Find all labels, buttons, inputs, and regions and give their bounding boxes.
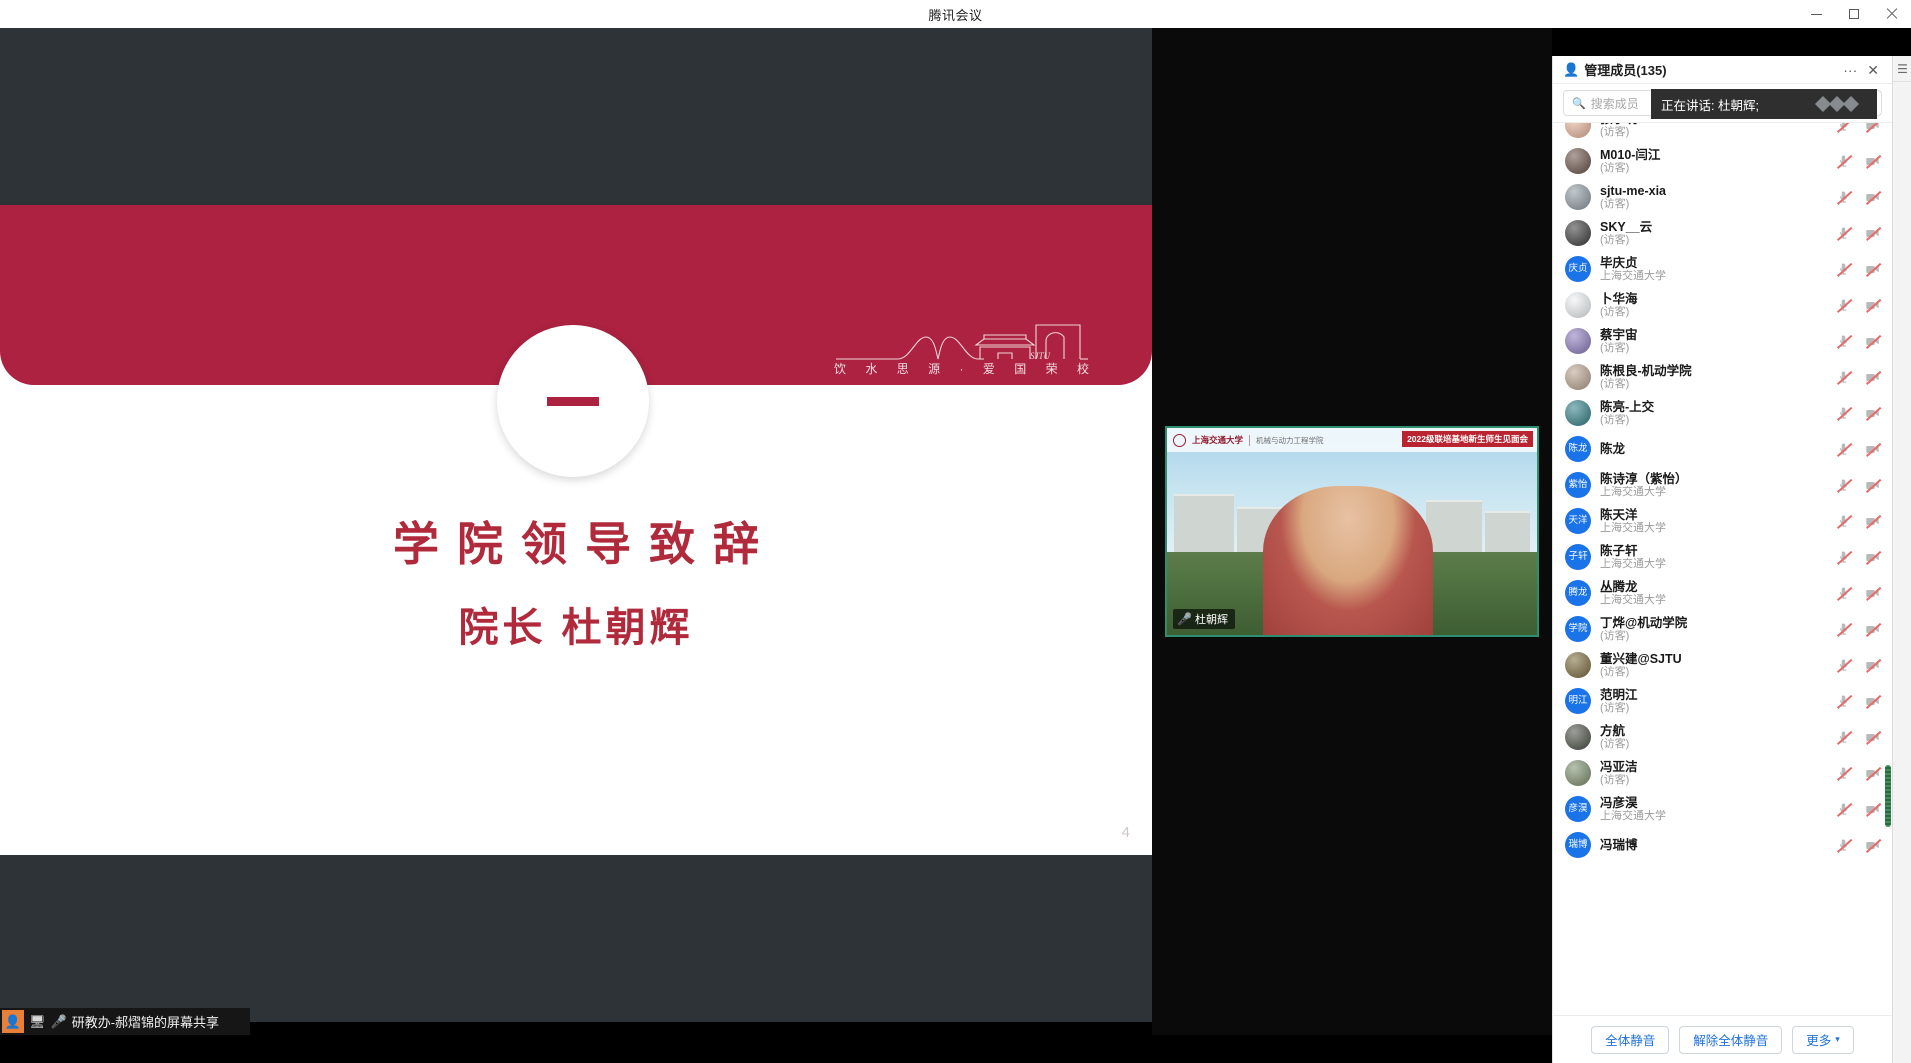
mic-muted-icon[interactable]	[1836, 766, 1851, 781]
participant-info: 陈诗淳（紫怡）上海交通大学	[1600, 472, 1827, 499]
participant-name: 陈子轩	[1600, 544, 1827, 558]
participant-name: 蔡宇宙	[1600, 328, 1827, 342]
participant-info: M010-闫江(访客)	[1600, 148, 1827, 175]
participant-row[interactable]: 陈根良-机动学院(访客)	[1553, 359, 1892, 395]
participant-name: 方航	[1600, 724, 1827, 738]
slide-circle-badge	[497, 325, 649, 477]
avatar: 学院	[1565, 616, 1591, 642]
participant-status-icons	[1836, 190, 1880, 205]
avatar: 陈龙	[1565, 436, 1591, 462]
share-status-label: 研教办-郝熠锦的屏幕共享	[72, 1012, 219, 1031]
screen-share-icon[interactable]: 🖥	[29, 1014, 46, 1030]
sjtu-logo-icon	[1173, 434, 1186, 447]
mic-muted-icon[interactable]	[1836, 154, 1851, 169]
participant-row[interactable]: 方航(访客)	[1553, 719, 1892, 755]
video-pane: 上海交通大学 机械与动力工程学院 2022级联培基地新生师生见面会 🎤 杜朝辉	[1152, 28, 1552, 1035]
panel-title: 管理成员(135)	[1584, 60, 1838, 79]
participant-name: 卜华海	[1600, 292, 1827, 306]
participant-status-icons	[1836, 370, 1880, 385]
slide-page-number: 4	[1122, 824, 1130, 841]
presentation-slide: SJTU 饮 水 思 源 · 爱 国 荣 校 学院领导致辞 院长 杜朝辉	[0, 205, 1152, 855]
avatar	[1565, 184, 1591, 210]
maximize-icon	[1849, 9, 1859, 19]
mic-muted-icon[interactable]	[1836, 190, 1851, 205]
mic-muted-icon[interactable]	[1836, 478, 1851, 493]
close-button[interactable]	[1873, 0, 1911, 28]
participant-name: 陈根良-机动学院	[1600, 364, 1827, 378]
slide-dash-mark	[547, 397, 599, 406]
motto-char: 思	[897, 360, 910, 377]
participant-name: 丁烨@机动学院	[1600, 616, 1827, 630]
mic-muted-icon[interactable]	[1836, 370, 1851, 385]
participant-row[interactable]: 陈亮-上交(访客)	[1553, 395, 1892, 431]
participant-row[interactable]: 陈龙陈龙	[1553, 431, 1892, 467]
camera-off-icon[interactable]	[1865, 838, 1880, 853]
participant-row[interactable]: sjtu-me-xia(访客)	[1553, 179, 1892, 215]
panel-close-button[interactable]: ✕	[1862, 63, 1884, 77]
participant-row[interactable]: 子轩陈子轩上海交通大学	[1553, 539, 1892, 575]
camera-off-icon[interactable]	[1865, 226, 1880, 241]
participant-name: 毕庆贞	[1600, 256, 1827, 270]
speaker-nameplate: 🎤 杜朝辉	[1173, 609, 1235, 629]
participant-status-icons	[1836, 550, 1880, 565]
participant-org: (访客)	[1600, 702, 1827, 715]
camera-off-icon[interactable]	[1865, 802, 1880, 817]
participant-org: 上海交通大学	[1600, 810, 1827, 823]
speaker-figure	[1263, 486, 1433, 635]
participant-row[interactable]: 瑞博冯瑞博	[1553, 827, 1892, 863]
scrollbar-thumb[interactable]	[1885, 765, 1891, 827]
participant-info: 丛腾龙上海交通大学	[1600, 580, 1827, 607]
motto-char: 爱	[983, 360, 996, 377]
participant-status-icons	[1836, 838, 1880, 853]
participant-status-icons	[1836, 406, 1880, 421]
participant-name: 陈龙	[1600, 442, 1827, 456]
avatar	[1565, 724, 1591, 750]
participant-org: (访客)	[1600, 414, 1827, 427]
camera-off-icon[interactable]	[1865, 190, 1880, 205]
participant-info: 陈子轩上海交通大学	[1600, 544, 1827, 571]
avatar: 明江	[1565, 688, 1591, 714]
participant-org: (访客)	[1600, 234, 1827, 247]
avatar	[1565, 652, 1591, 678]
participant-info: 蔡宇宙(访客)	[1600, 328, 1827, 355]
participant-org: (访客)	[1600, 126, 1827, 139]
mic-muted-icon[interactable]	[1836, 442, 1851, 457]
maximize-button[interactable]	[1835, 0, 1873, 28]
participant-status-icons	[1836, 622, 1880, 637]
participant-row[interactable]: 蔡宇宙(访客)	[1553, 323, 1892, 359]
participant-status-icons	[1836, 122, 1880, 133]
participant-info: 丁烨@机动学院(访客)	[1600, 616, 1827, 643]
avatar	[1565, 760, 1591, 786]
video-building	[1426, 500, 1482, 556]
participant-org: 上海交通大学	[1600, 486, 1827, 499]
mute-all-label: 全体静音	[1605, 1030, 1655, 1049]
camera-off-icon[interactable]	[1865, 262, 1880, 277]
camera-off-icon[interactable]	[1865, 730, 1880, 745]
mic-muted-icon[interactable]	[1836, 586, 1851, 601]
participant-status-icons	[1836, 154, 1880, 169]
video-building	[1174, 494, 1233, 556]
participant-row[interactable]: 庆贞毕庆贞上海交通大学	[1553, 251, 1892, 287]
participant-org: 上海交通大学	[1600, 558, 1827, 571]
panel-header: 👤 管理成员(135) ··· ✕	[1553, 56, 1892, 84]
participant-name: 丛腾龙	[1600, 580, 1827, 594]
participant-row[interactable]: 明江范明江(访客)	[1553, 683, 1892, 719]
avatar	[1565, 122, 1591, 138]
panel-footer: 全体静音 解除全体静音 更多 ▾	[1553, 1015, 1892, 1063]
camera-off-icon[interactable]	[1865, 694, 1880, 709]
video-university-name: 上海交通大学	[1192, 434, 1243, 446]
participant-org: (访客)	[1600, 666, 1827, 679]
participant-org: 上海交通大学	[1600, 270, 1827, 283]
slide-motto: 饮 水 思 源 · 爱 国 荣 校	[834, 360, 1090, 377]
meeting-stage: SJTU 饮 水 思 源 · 爱 国 荣 校 学院领导致辞 院长 杜朝辉	[0, 28, 1911, 1035]
avatar	[1565, 220, 1591, 246]
user-icon: 👤	[2, 1010, 24, 1033]
participant-name: 冯彦淏	[1600, 796, 1827, 810]
participant-status-icons	[1836, 514, 1880, 529]
video-topic-label: 2022级联培基地新生师生见面会	[1402, 431, 1533, 447]
speaking-now-toast: 正在讲话: 杜朝辉;	[1651, 89, 1877, 119]
camera-off-icon[interactable]	[1865, 586, 1880, 601]
mic-muted-icon[interactable]	[1836, 622, 1851, 637]
participant-org: 上海交通大学	[1600, 594, 1827, 607]
minimize-icon	[1811, 14, 1822, 15]
window-controls	[1797, 0, 1911, 28]
participant-name: 董兴建@SJTU	[1600, 652, 1827, 666]
participant-info: 冯瑞博	[1600, 838, 1827, 852]
mic-on-icon: 🎤	[1177, 613, 1192, 625]
chevron-down-icon: ▾	[1835, 1034, 1840, 1045]
mic-muted-icon[interactable]	[1836, 694, 1851, 709]
search-icon: 🔍	[1572, 97, 1586, 110]
participant-org: (访客)	[1600, 162, 1827, 175]
participant-org: (访客)	[1600, 342, 1827, 355]
camera-off-icon[interactable]	[1865, 406, 1880, 421]
minimize-button[interactable]	[1797, 0, 1835, 28]
participant-name: 陈天洋	[1600, 508, 1827, 522]
participant-status-icons	[1836, 478, 1880, 493]
camera-off-icon[interactable]	[1865, 122, 1880, 133]
participant-status-icons	[1836, 262, 1880, 277]
motto-char: 校	[1077, 360, 1090, 377]
motto-char: 水	[865, 360, 878, 377]
avatar	[1565, 148, 1591, 174]
avatar: 紫怡	[1565, 472, 1591, 498]
camera-off-icon[interactable]	[1865, 370, 1880, 385]
participant-org: (访客)	[1600, 306, 1827, 319]
participants-panel: 👤 管理成员(135) ··· ✕ 🔍 搜索成员 正在讲话: 杜朝辉;	[1552, 56, 1892, 1063]
participant-info: 方航(访客)	[1600, 724, 1827, 751]
slide-subtitle: 院长 杜朝辉	[0, 595, 1152, 653]
participant-list-scrollbar[interactable]	[1885, 123, 1891, 1015]
people-icon: 👤	[1563, 62, 1579, 78]
participant-row[interactable]: SKY__云(访客)	[1553, 215, 1892, 251]
participant-row[interactable]: 董兴建@SJTU(访客)	[1553, 647, 1892, 683]
participant-name: SKY__云	[1600, 220, 1827, 234]
participant-name: sjtu-me-xia	[1600, 184, 1827, 198]
participant-status-icons	[1836, 730, 1880, 745]
participant-name: M010-闫江	[1600, 148, 1827, 162]
participant-status-icons	[1836, 334, 1880, 349]
camera-off-icon[interactable]	[1865, 766, 1880, 781]
mic-muted-icon[interactable]	[1836, 262, 1851, 277]
avatar: 瑞博	[1565, 832, 1591, 858]
motto-char: 国	[1014, 360, 1027, 377]
avatar: 彦淏	[1565, 796, 1591, 822]
participant-status-icons	[1836, 802, 1880, 817]
participant-info: 张小明(访客)	[1600, 122, 1827, 139]
shared-screen-area[interactable]: SJTU 饮 水 思 源 · 爱 国 荣 校 学院领导致辞 院长 杜朝辉	[0, 28, 1152, 1022]
participant-info: 陈亮-上交(访客)	[1600, 400, 1827, 427]
camera-off-icon[interactable]	[1865, 298, 1880, 313]
mic-muted-icon[interactable]	[1836, 730, 1851, 745]
camera-off-icon[interactable]	[1865, 658, 1880, 673]
participant-status-icons	[1836, 658, 1880, 673]
participant-row[interactable]: 张小明(访客)	[1553, 122, 1892, 143]
participant-org: (访客)	[1600, 738, 1827, 751]
participant-info: SKY__云(访客)	[1600, 220, 1827, 247]
participant-info: 董兴建@SJTU(访客)	[1600, 652, 1827, 679]
participant-org: (访客)	[1600, 378, 1827, 391]
video-department-name: 机械与动力工程学院	[1256, 435, 1324, 446]
screen-share-bar[interactable]: 👤 🖥 🎤 研教办-郝熠锦的屏幕共享	[0, 1008, 250, 1035]
participant-row[interactable]: 彦淏冯彦淏上海交通大学	[1553, 791, 1892, 827]
camera-off-icon[interactable]	[1865, 334, 1880, 349]
participant-org: 上海交通大学	[1600, 522, 1827, 535]
mic-muted-icon[interactable]	[1836, 298, 1851, 313]
app-title: 腾讯会议	[928, 5, 982, 24]
avatar	[1565, 364, 1591, 390]
more-options-button[interactable]: 更多 ▾	[1792, 1026, 1854, 1054]
avatar: 腾龙	[1565, 580, 1591, 606]
participant-name: 范明江	[1600, 688, 1827, 702]
participant-row[interactable]: 天洋陈天洋上海交通大学	[1553, 503, 1892, 539]
mic-muted-icon[interactable]	[1836, 802, 1851, 817]
participant-status-icons	[1836, 442, 1880, 457]
participant-info: 陈天洋上海交通大学	[1600, 508, 1827, 535]
motto-char: 饮	[834, 360, 847, 377]
participant-name: 陈亮-上交	[1600, 400, 1827, 414]
mic-muted-icon[interactable]: 🎤	[51, 1014, 67, 1030]
camera-off-icon[interactable]	[1865, 550, 1880, 565]
camera-off-icon[interactable]	[1865, 514, 1880, 529]
panel-more-button[interactable]: ···	[1838, 63, 1862, 77]
avatar	[1565, 400, 1591, 426]
participant-org: (访客)	[1600, 198, 1827, 211]
participant-info: 范明江(访客)	[1600, 688, 1827, 715]
mic-muted-icon[interactable]	[1836, 550, 1851, 565]
participant-info: 陈根良-机动学院(访客)	[1600, 364, 1827, 391]
participant-status-icons	[1836, 226, 1880, 241]
speaking-now-text: 正在讲话: 杜朝辉;	[1661, 95, 1759, 114]
close-icon	[1886, 8, 1898, 20]
avatar: 庆贞	[1565, 256, 1591, 282]
panel-menu-button[interactable]: ☰	[1893, 56, 1911, 82]
motto-char: 源	[928, 360, 941, 377]
participant-info: 冯彦淏上海交通大学	[1600, 796, 1827, 823]
divider	[1249, 435, 1250, 446]
motto-char: ·	[960, 362, 965, 376]
participant-list[interactable]: 张小明(访客)M010-闫江(访客)sjtu-me-xia(访客)SKY__云(…	[1553, 122, 1892, 1015]
more-label: 更多	[1806, 1030, 1831, 1049]
mic-muted-icon[interactable]	[1836, 122, 1851, 133]
unmute-all-button[interactable]: 解除全体静音	[1679, 1026, 1782, 1054]
video-building	[1485, 511, 1529, 557]
participant-status-icons	[1836, 694, 1880, 709]
camera-off-icon[interactable]	[1865, 478, 1880, 493]
speaker-video-tile[interactable]: 上海交通大学 机械与动力工程学院 2022级联培基地新生师生见面会 🎤 杜朝辉	[1165, 426, 1539, 637]
participant-row[interactable]: M010-闫江(访客)	[1553, 143, 1892, 179]
avatar	[1565, 292, 1591, 318]
avatar	[1565, 328, 1591, 354]
mic-muted-icon[interactable]	[1836, 406, 1851, 421]
participant-info: 卜华海(访客)	[1600, 292, 1827, 319]
search-placeholder: 搜索成员	[1591, 95, 1639, 112]
participant-info: 毕庆贞上海交通大学	[1600, 256, 1827, 283]
toast-decoration-icon	[1807, 93, 1869, 115]
mic-muted-icon[interactable]	[1836, 514, 1851, 529]
mic-muted-icon[interactable]	[1836, 334, 1851, 349]
participant-row[interactable]: 学院丁烨@机动学院(访客)	[1553, 611, 1892, 647]
participant-name: 冯瑞博	[1600, 838, 1827, 852]
participant-status-icons	[1836, 298, 1880, 313]
mic-muted-icon[interactable]	[1836, 226, 1851, 241]
mic-muted-icon[interactable]	[1836, 658, 1851, 673]
participant-org: (访客)	[1600, 774, 1827, 787]
unmute-all-label: 解除全体静音	[1693, 1030, 1768, 1049]
camera-off-icon[interactable]	[1865, 154, 1880, 169]
participant-info: sjtu-me-xia(访客)	[1600, 184, 1827, 211]
window-title-bar: 腾讯会议	[0, 0, 1911, 28]
participant-status-icons	[1836, 586, 1880, 601]
mute-all-button[interactable]: 全体静音	[1591, 1026, 1669, 1054]
participant-row[interactable]: 冯亚洁(访客)	[1553, 755, 1892, 791]
participant-org: (访客)	[1600, 630, 1827, 643]
participant-row[interactable]: 紫怡陈诗淳（紫怡）上海交通大学	[1553, 467, 1892, 503]
slide-title: 学院领导致辞	[0, 508, 1152, 574]
participant-status-icons	[1836, 766, 1880, 781]
participant-name: 冯亚洁	[1600, 760, 1827, 774]
participant-name: 陈诗淳（紫怡）	[1600, 472, 1827, 486]
camera-off-icon[interactable]	[1865, 622, 1880, 637]
participant-info: 冯亚洁(访客)	[1600, 760, 1827, 787]
participant-row[interactable]: 腾龙丛腾龙上海交通大学	[1553, 575, 1892, 611]
camera-off-icon[interactable]	[1865, 442, 1880, 457]
motto-char: 荣	[1046, 360, 1059, 377]
speaker-name: 杜朝辉	[1195, 611, 1228, 627]
participant-info: 陈龙	[1600, 442, 1827, 456]
mic-muted-icon[interactable]	[1836, 838, 1851, 853]
avatar: 天洋	[1565, 508, 1591, 534]
avatar: 子轩	[1565, 544, 1591, 570]
panel-search-row: 🔍 搜索成员 正在讲话: 杜朝辉;	[1553, 84, 1892, 122]
participant-row[interactable]: 卜华海(访客)	[1553, 287, 1892, 323]
right-edge-strip: ☰	[1892, 56, 1911, 1063]
